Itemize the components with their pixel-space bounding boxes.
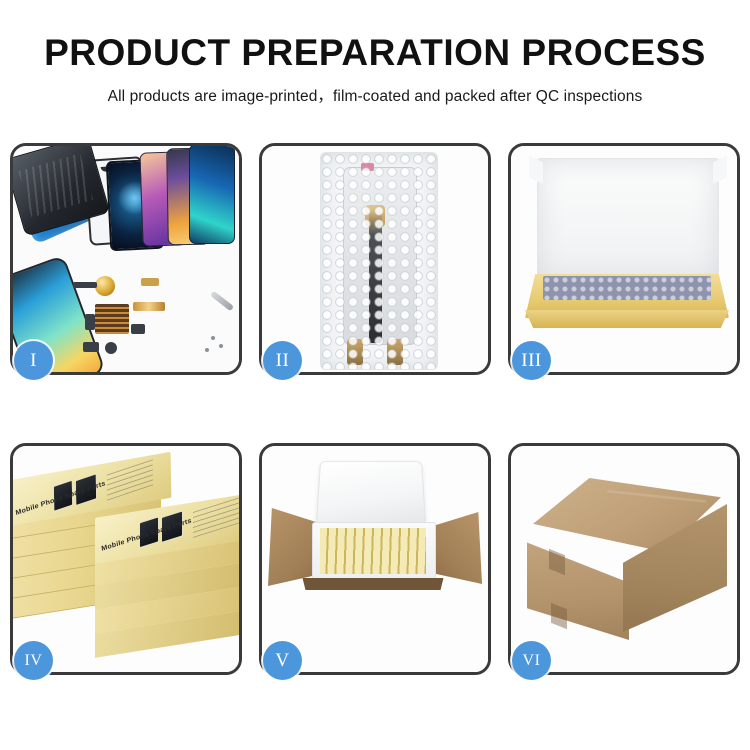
wireless-coil-part — [95, 276, 115, 296]
screen-foot-right — [387, 339, 403, 365]
flex-cable-part — [133, 302, 165, 311]
carton-flap-right — [436, 512, 482, 584]
product-preparation-infographic: PRODUCT PREPARATION PROCESS All products… — [0, 0, 750, 750]
step-panel-4: Mobile Phone Spare Parts Mobile Phone Sp… — [10, 443, 242, 675]
steps-grid: I II — [10, 143, 740, 675]
step-badge-6: VI — [512, 641, 551, 680]
header: PRODUCT PREPARATION PROCESS All products… — [0, 0, 750, 106]
page-subtitle: All products are image-printed，film-coat… — [0, 84, 750, 106]
step-photo-sealed-carton — [511, 446, 737, 672]
bubble-wrap-bag — [320, 152, 438, 370]
screw-3 — [205, 348, 209, 352]
step-photo-open-carton-with-foam — [262, 446, 488, 672]
small-part-d — [83, 342, 99, 352]
step-photo-phones-and-parts — [13, 146, 239, 372]
screen-foot-left — [347, 339, 363, 365]
step-badge-1: I — [14, 341, 53, 380]
lid-spec-text-lines — [107, 459, 153, 500]
step-photo-stacked-boxes: Mobile Phone Spare Parts Mobile Phone Sp… — [13, 446, 239, 672]
small-part-bar — [73, 282, 97, 288]
carton-flap-left — [268, 508, 316, 586]
step-photo-bubble-wrapped-screen — [262, 146, 488, 372]
sealed-carton — [527, 478, 727, 642]
pink-qc-tag — [361, 163, 374, 171]
small-part-e — [141, 278, 159, 286]
screw-2 — [219, 344, 223, 348]
screen-flex-spine — [369, 211, 382, 343]
lid2-spec-text-lines — [193, 497, 239, 538]
step-panel-3: III — [508, 143, 740, 375]
phone-teal-display — [189, 146, 235, 244]
box-lid-open — [537, 158, 719, 292]
small-part-b — [131, 324, 145, 334]
connector-grid-part — [95, 304, 129, 334]
step-panel-5: V — [259, 443, 491, 675]
step-badge-5: V — [263, 641, 302, 680]
small-part-c — [105, 342, 117, 354]
step-photo-open-flat-box — [511, 146, 737, 372]
small-part-a — [85, 314, 95, 330]
step-badge-2: II — [263, 341, 302, 380]
box-tray-front-edge — [525, 310, 729, 328]
yellow-boxes-inside — [320, 528, 426, 574]
page-title: PRODUCT PREPARATION PROCESS — [0, 34, 750, 73]
screw-1 — [211, 336, 215, 340]
step-panel-2: II — [259, 143, 491, 375]
step-panel-6: VI — [508, 443, 740, 675]
foam-box-lid — [316, 461, 426, 526]
tweezers-tool — [210, 291, 234, 312]
bubble-cushion-fill — [543, 276, 711, 300]
box-stack: Mobile Phone Spare Parts Mobile Phone Sp… — [13, 464, 239, 664]
step-badge-3: III — [512, 341, 551, 380]
step-badge-4: IV — [14, 641, 53, 680]
carton-left-face — [527, 534, 629, 640]
step-panel-1: I — [10, 143, 242, 375]
carton-body — [300, 584, 446, 648]
